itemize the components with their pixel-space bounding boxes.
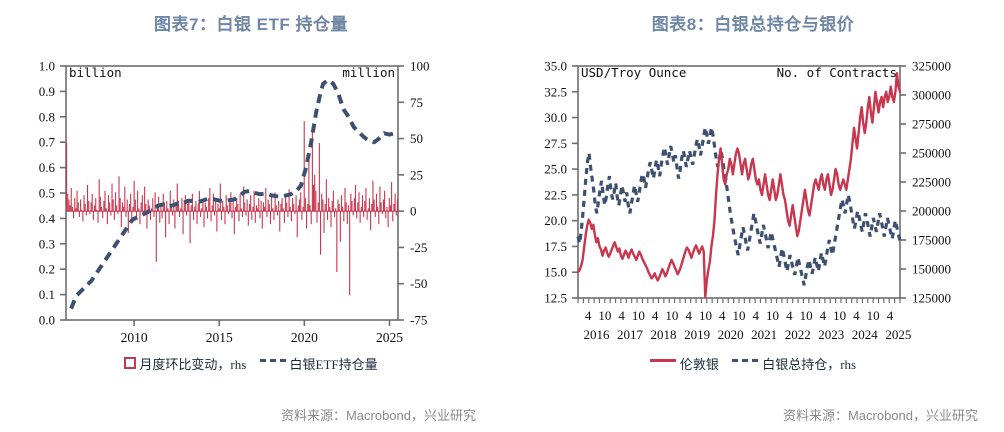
bar	[350, 194, 351, 211]
bar	[278, 201, 279, 211]
bar	[144, 186, 145, 211]
bar	[118, 176, 119, 211]
bar	[381, 202, 382, 211]
axis-tick-label: -25	[410, 240, 427, 255]
bar	[97, 211, 98, 223]
bar	[94, 205, 95, 211]
axis-month-label: 10	[598, 308, 611, 323]
axis-tick-label: 2025	[376, 330, 403, 343]
bar	[84, 195, 85, 211]
axis-tick-label: 32.5	[544, 84, 567, 99]
bar	[169, 211, 170, 224]
legend-item-london-silver: 伦敦银	[650, 354, 719, 373]
axis-tick-label: 0.7	[39, 135, 56, 150]
axis-tick-label: 30.0	[544, 110, 567, 125]
bar	[351, 201, 352, 211]
bar	[308, 156, 309, 211]
right-axis-unit-label: million	[342, 65, 395, 80]
figure-8-legend: 伦敦银 白银总持仓，rhs	[502, 354, 1004, 373]
bar	[321, 194, 322, 211]
bar	[392, 211, 393, 221]
bar	[195, 201, 196, 211]
bar	[95, 198, 96, 211]
bar	[250, 195, 251, 211]
bar	[305, 198, 306, 211]
dashed-line-icon	[260, 359, 286, 362]
bar	[156, 211, 157, 262]
bar	[249, 204, 250, 211]
bar	[361, 207, 362, 211]
bar	[127, 200, 128, 212]
bar	[298, 205, 299, 211]
bar	[268, 200, 269, 212]
bar	[205, 202, 206, 211]
axis-tick-label: 250000	[912, 146, 951, 161]
bar	[327, 211, 328, 220]
bar	[244, 202, 245, 211]
bar	[155, 192, 156, 211]
bar	[240, 194, 241, 211]
etf-holdings-line	[71, 80, 394, 309]
bar	[99, 179, 100, 211]
bar	[186, 211, 187, 215]
bar	[227, 205, 228, 211]
bar	[120, 198, 121, 211]
bar	[178, 201, 179, 211]
axis-tick-label: 17.5	[544, 239, 567, 254]
bar	[363, 211, 364, 217]
bar	[183, 211, 184, 234]
bar	[187, 204, 188, 211]
bar	[194, 207, 195, 211]
bar	[276, 205, 277, 211]
axis-month-label: 4	[719, 308, 726, 323]
legend-label-london-silver: 伦敦银	[680, 354, 719, 373]
axis-tick-label: -50	[410, 276, 427, 291]
bar	[340, 211, 341, 241]
square-marker-icon	[124, 357, 136, 369]
bar	[207, 211, 208, 218]
bar	[280, 204, 281, 211]
bar	[210, 211, 211, 221]
bar	[234, 211, 235, 234]
bar	[123, 207, 124, 211]
axis-year-label: 2017	[617, 327, 644, 342]
figure-8-title: 图表8：白银总持仓与银价	[502, 10, 1004, 35]
bar	[371, 204, 372, 211]
bar	[212, 205, 213, 211]
bar	[263, 202, 264, 211]
bar	[262, 211, 263, 228]
legend-item-total-oi: 白银总持仓，rhs	[728, 354, 856, 373]
bar	[259, 211, 260, 218]
bar	[293, 204, 294, 211]
axis-month-label: 10	[632, 308, 645, 323]
bar	[322, 200, 323, 212]
bar	[107, 211, 108, 224]
axis-tick-label: 275000	[912, 117, 951, 132]
bar	[279, 211, 280, 231]
axis-year-label: 2024	[852, 327, 879, 342]
bar	[247, 200, 248, 212]
legend-item-monthly-change: 月度环比变动，rhs	[124, 354, 246, 373]
bar	[389, 198, 390, 211]
bar	[190, 211, 191, 243]
bar	[357, 202, 358, 211]
bar	[72, 207, 73, 211]
bar	[326, 179, 327, 211]
axis-year-label: 2019	[684, 327, 710, 342]
bar	[206, 207, 207, 211]
figure-8-plot: 12.515.017.520.022.525.027.530.032.535.0…	[502, 48, 1004, 343]
bar	[354, 198, 355, 211]
bar	[375, 211, 376, 217]
bar	[362, 195, 363, 211]
bar	[217, 204, 218, 211]
bar	[330, 211, 331, 227]
bar	[93, 211, 94, 220]
bar	[137, 191, 138, 211]
figures-board: 图表7：白银 ETF 持仓量 0.00.10.20.30.40.50.60.70…	[0, 0, 1004, 432]
bar	[377, 207, 378, 211]
bar	[165, 211, 166, 237]
figure-7-svg: 0.00.10.20.30.40.50.60.70.80.91.0-75-50-…	[0, 48, 502, 343]
bar	[111, 184, 112, 212]
bar	[216, 211, 217, 231]
axis-tick-label: 15.0	[544, 265, 567, 280]
bar	[333, 191, 334, 211]
axis-tick-label: 0.4	[39, 211, 56, 226]
bar	[297, 211, 298, 237]
bar	[269, 204, 270, 211]
bar	[235, 207, 236, 211]
bar	[336, 211, 337, 272]
bar	[252, 207, 253, 211]
axis-year-label: 2022	[785, 327, 811, 342]
axis-tick-label: 175000	[912, 233, 951, 248]
axis-tick-label: 225000	[912, 175, 951, 190]
bar	[100, 197, 101, 212]
bar	[220, 184, 221, 212]
bar	[349, 211, 350, 295]
bar	[273, 211, 274, 220]
axis-tick-label: 12.5	[544, 291, 567, 306]
bar	[300, 192, 301, 211]
bar	[208, 198, 209, 211]
bar	[277, 211, 278, 215]
legend-label-total-oi: 白银总持仓，rhs	[762, 354, 856, 373]
axis-year-label: 2025	[885, 327, 911, 342]
bar	[170, 191, 171, 211]
figure-8-svg: 12.515.017.520.022.525.027.530.032.535.0…	[502, 48, 1004, 343]
axis-month-label: 10	[766, 308, 779, 323]
axis-tick-label: 20.0	[544, 213, 567, 228]
bar	[73, 211, 74, 218]
bar	[256, 205, 257, 211]
bar	[110, 211, 111, 215]
axis-tick-label: 50	[410, 131, 423, 146]
bar	[177, 184, 178, 212]
bar	[320, 211, 321, 255]
bar	[114, 211, 115, 220]
bar	[339, 204, 340, 211]
bar	[109, 202, 110, 211]
bar	[367, 211, 368, 220]
bar	[258, 198, 259, 211]
bar	[159, 211, 160, 223]
bar	[287, 211, 288, 217]
axis-month-label: 4	[887, 308, 894, 323]
bar	[242, 211, 243, 217]
bar	[124, 186, 125, 211]
legend-label-monthly-change: 月度环比变动，rhs	[139, 354, 246, 373]
bar	[332, 201, 333, 211]
bar	[316, 211, 317, 223]
bar	[356, 211, 357, 218]
bar	[372, 181, 373, 211]
bar	[237, 204, 238, 211]
bar	[397, 200, 398, 212]
bar	[358, 192, 359, 211]
plot-frame	[578, 66, 900, 298]
bar	[315, 191, 316, 211]
axis-tick-label: 0.5	[39, 186, 55, 201]
figure-7-source: 资料来源：Macrobond，兴业研究	[0, 405, 502, 424]
figure-7-plot: 0.00.10.20.30.40.50.60.70.80.91.0-75-50-…	[0, 48, 502, 343]
bar	[310, 205, 311, 211]
bar	[319, 143, 320, 211]
axis-month-label: 4	[652, 308, 659, 323]
axis-tick-label: 2015	[206, 330, 233, 343]
axis-year-label: 2023	[818, 327, 844, 342]
axis-year-label: 2021	[751, 327, 777, 342]
bar	[325, 204, 326, 211]
bar	[395, 194, 396, 211]
axis-tick-label: 0	[410, 204, 417, 219]
bar	[91, 202, 92, 211]
axis-month-label: 4	[786, 308, 793, 323]
bar	[360, 211, 361, 223]
bar	[365, 188, 366, 211]
bar	[193, 211, 194, 220]
bar	[152, 198, 153, 211]
bar	[130, 194, 131, 211]
bar	[313, 185, 314, 211]
bar	[121, 211, 122, 227]
bar	[103, 201, 104, 211]
axis-tick-label: 0.1	[39, 287, 55, 302]
bar	[203, 211, 204, 227]
axis-tick-label: 25.0	[544, 162, 567, 177]
bar	[385, 211, 386, 218]
bar	[174, 211, 175, 228]
axis-tick-label: 100	[410, 59, 430, 74]
bar	[108, 195, 109, 211]
bar	[231, 211, 232, 218]
bar	[68, 200, 69, 212]
axis-tick-label: 1.0	[39, 59, 55, 74]
bar	[301, 211, 302, 220]
axis-month-label: 4	[618, 308, 625, 323]
bar	[222, 201, 223, 211]
bar	[148, 200, 149, 212]
bar	[197, 211, 198, 224]
axis-month-label: 10	[699, 308, 712, 323]
bar	[125, 211, 126, 217]
bar	[383, 200, 384, 212]
bar	[390, 205, 391, 211]
bar	[104, 191, 105, 211]
bar	[248, 211, 249, 226]
bar	[306, 211, 307, 228]
bar	[388, 211, 389, 227]
bar	[153, 211, 154, 217]
bar	[67, 194, 68, 211]
bar	[101, 207, 102, 211]
bar	[78, 202, 79, 211]
axis-tick-label: 22.5	[544, 187, 567, 202]
axis-year-label: 2016	[583, 327, 610, 342]
bar	[139, 211, 140, 224]
axis-tick-label: 125000	[912, 291, 951, 306]
bar	[328, 198, 329, 211]
right-axis-unit-label: No. of Contracts	[777, 65, 897, 80]
axis-month-label: 4	[820, 308, 827, 323]
bar	[314, 175, 315, 211]
bar	[142, 195, 143, 211]
axis-tick-label: 150000	[912, 262, 951, 277]
figure-7-title: 图表7：白银 ETF 持仓量	[0, 10, 502, 35]
axis-tick-label: 0.8	[39, 109, 55, 124]
bar	[291, 211, 292, 221]
bar	[88, 201, 89, 211]
dashed-line-icon	[732, 359, 758, 362]
bar	[378, 211, 379, 224]
axis-tick-label: -75	[410, 313, 427, 328]
figure-7-legend: 月度环比变动，rhs 白银ETF持仓量	[0, 354, 502, 373]
axis-month-label: 4	[753, 308, 760, 323]
bar	[115, 192, 116, 211]
bar	[116, 205, 117, 211]
bar	[223, 207, 224, 211]
bar	[271, 195, 272, 211]
legend-item-etf-holdings: 白银ETF持仓量	[256, 354, 378, 373]
axis-tick-label: 325000	[912, 59, 951, 74]
bar	[347, 211, 348, 224]
bar	[364, 201, 365, 211]
bar	[396, 211, 397, 215]
bar	[264, 207, 265, 211]
bar	[369, 198, 370, 211]
bar	[179, 211, 180, 217]
bar	[348, 205, 349, 211]
bar	[77, 191, 78, 211]
bar	[70, 205, 71, 211]
monthly-change-bars	[66, 121, 398, 295]
axis-tick-label: 0.6	[39, 160, 56, 175]
bar	[113, 200, 114, 212]
bar	[82, 211, 83, 221]
bar	[384, 191, 385, 211]
axis-month-label: 10	[867, 308, 880, 323]
bar	[66, 143, 67, 211]
bar	[265, 188, 266, 211]
axis-month-label: 10	[733, 308, 746, 323]
axis-tick-label: 2020	[291, 330, 318, 343]
bar	[87, 185, 88, 211]
bar	[80, 200, 81, 212]
axis-tick-label: 0.9	[39, 84, 55, 99]
left-axis-unit-label: billion	[69, 65, 122, 80]
bar	[162, 211, 163, 218]
bar	[226, 195, 227, 211]
bar	[329, 207, 330, 211]
bar	[135, 200, 136, 212]
solid-line-icon	[650, 359, 676, 362]
figure-8-source: 资料来源：Macrobond，兴业研究	[502, 405, 1004, 424]
bar	[292, 198, 293, 211]
bar	[238, 211, 239, 221]
bar	[79, 211, 80, 217]
axis-year-label: 2018	[651, 327, 677, 342]
axis-tick-label: 300000	[912, 88, 951, 103]
legend-label-etf-holdings: 白银ETF持仓量	[290, 354, 378, 373]
bar	[134, 181, 135, 211]
axis-tick-label: 75	[410, 95, 423, 110]
bar	[214, 211, 215, 215]
bar	[213, 194, 214, 211]
axis-tick-label: 25	[410, 167, 423, 182]
bar	[122, 202, 123, 211]
bar	[393, 204, 394, 211]
axis-month-label: 4	[685, 308, 692, 323]
bar	[376, 194, 377, 211]
axis-month-label: 10	[800, 308, 813, 323]
bar	[323, 211, 324, 233]
bar	[172, 211, 173, 215]
axis-tick-label: 0.0	[39, 313, 55, 328]
bar	[353, 211, 354, 215]
axis-year-label: 2020	[718, 327, 744, 342]
bar	[290, 207, 291, 211]
bar	[221, 211, 222, 220]
bar	[160, 207, 161, 211]
bar	[284, 211, 285, 223]
figure-8-panel: 图表8：白银总持仓与银价 12.515.017.520.022.525.027.…	[502, 0, 1004, 432]
london-silver-price-line	[578, 73, 900, 297]
bar	[379, 186, 380, 211]
axis-month-label: 4	[585, 308, 592, 323]
bar	[296, 195, 297, 211]
axis-tick-label: 200000	[912, 204, 951, 219]
axis-month-label: 10	[665, 308, 678, 323]
axis-tick-label: 2010	[121, 330, 148, 343]
bar	[374, 200, 375, 212]
bar	[346, 202, 347, 211]
bar	[74, 198, 75, 211]
bar	[145, 204, 146, 211]
bar	[198, 204, 199, 211]
bar	[102, 211, 103, 218]
bar	[304, 121, 305, 211]
bar	[355, 185, 356, 211]
bar	[255, 211, 256, 223]
bar	[181, 198, 182, 211]
bar	[224, 211, 225, 224]
bar	[299, 200, 300, 212]
bar	[334, 211, 335, 217]
bar	[141, 202, 142, 211]
